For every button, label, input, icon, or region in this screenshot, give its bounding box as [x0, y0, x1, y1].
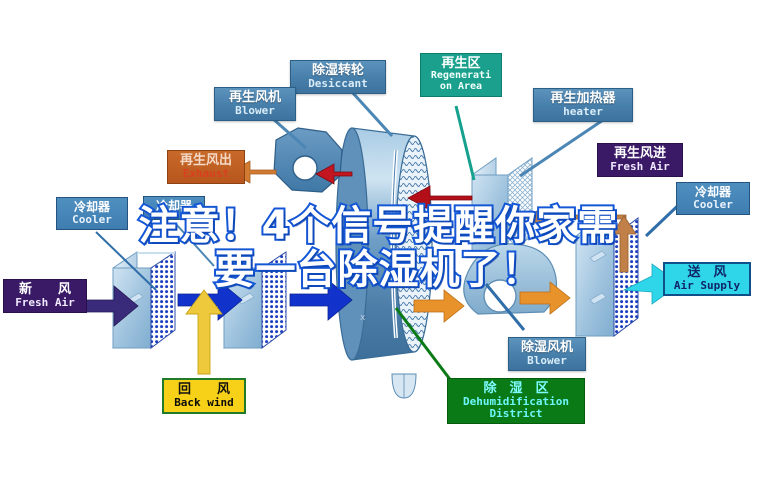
label-cn: 再生风出	[172, 154, 240, 168]
label-cn: 除湿转轮	[295, 64, 381, 78]
svg-text:x: x	[360, 313, 366, 323]
desiccant-rotor: x	[336, 128, 432, 360]
label-cn: 再生区	[425, 57, 497, 71]
label-fresh-air-in: 新 风 Fresh Air	[3, 279, 87, 313]
label-regeneration-blower: 再生风机 Blower	[214, 87, 296, 121]
label-en: Air Supply	[669, 280, 745, 292]
label-cn: 再生风机	[219, 91, 291, 105]
label-air-supply: 送 风 Air Supply	[663, 262, 751, 296]
label-cn: 冷却器	[681, 186, 745, 199]
label-dehumidification-district: 除 湿 区 Dehumidification District	[447, 378, 585, 424]
label-en: Fresh Air	[8, 297, 82, 309]
regen-inlet-arrow	[526, 207, 626, 227]
label-cn: 再生加热器	[538, 92, 628, 106]
label-cn: 新 风	[8, 283, 82, 297]
label-cn: 除 湿 区	[452, 382, 580, 396]
label-regeneration-heater: 再生加热器 heater	[533, 88, 633, 122]
label-en: heater	[538, 106, 628, 118]
label-desiccant-wheel: 除湿转轮 Desiccant	[290, 60, 386, 94]
label-en-line2: District	[452, 408, 580, 420]
cooling-coil-3	[576, 218, 638, 336]
label-back-wind: 回 风 Back wind	[162, 378, 246, 414]
label-en: Cooler	[681, 199, 745, 211]
label-exhaust: 再生风出 Exhaust	[167, 150, 245, 184]
label-cn: 冷却器	[61, 201, 123, 214]
label-en-line2: on Area	[425, 82, 497, 93]
label-en: Cooler	[61, 214, 123, 226]
label-regeneration-area: 再生区 Regenerati on Area	[420, 53, 502, 97]
label-en: Back wind	[168, 397, 240, 409]
drain-pan	[392, 374, 416, 398]
label-regeneration-fresh-air-in: 再生风进 Fresh Air	[597, 143, 683, 177]
label-cooler-mid: 冷却器	[143, 196, 205, 220]
label-cooler-right: 冷却器 Cooler	[676, 182, 750, 215]
label-cooler-left: 冷却器 Cooler	[56, 197, 128, 230]
label-cn: 回 风	[168, 383, 240, 397]
label-en: Blower	[219, 105, 291, 117]
label-dehumidify-blower: 除湿风机 Blower	[508, 337, 586, 371]
label-en: Fresh Air	[602, 161, 678, 173]
label-en: Exhaust	[172, 168, 240, 180]
label-en: Desiccant	[295, 78, 381, 90]
label-cn: 冷却器	[148, 200, 200, 213]
label-en: Blower	[513, 355, 581, 367]
label-cn: 送 风	[669, 266, 745, 280]
label-cn: 再生风进	[602, 147, 678, 161]
label-cn: 除湿风机	[513, 341, 581, 355]
diagram-canvas: x	[0, 0, 757, 488]
